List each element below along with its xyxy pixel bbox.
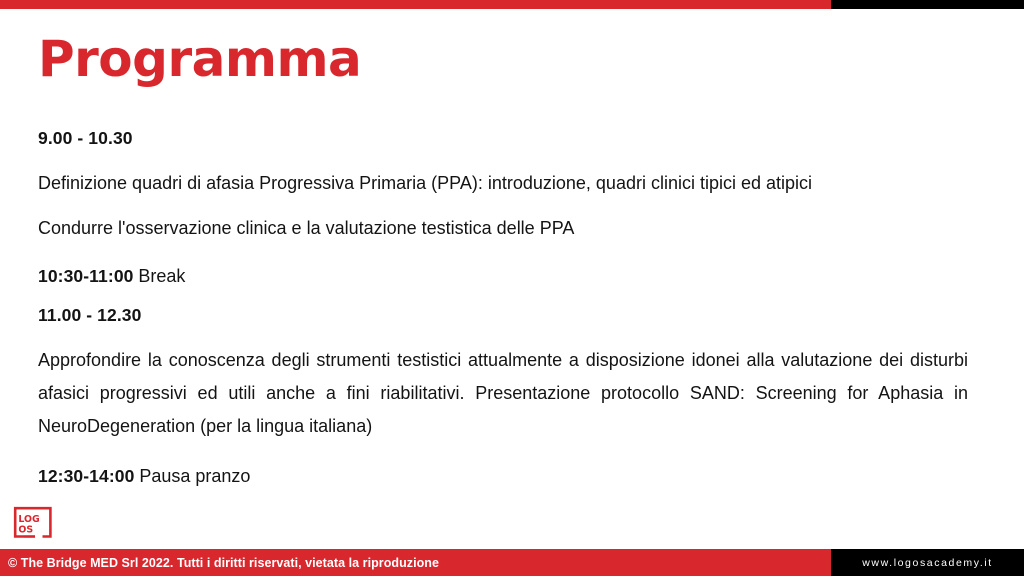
- top-bar-red-segment: [0, 0, 831, 9]
- spacer: [38, 257, 968, 265]
- footer-website-section: www.logosacademy.it: [831, 549, 1024, 576]
- spacer: [38, 455, 968, 465]
- schedule-time-2: 10:30-11:00: [38, 266, 133, 286]
- logo-line-2-text: OS: [18, 525, 33, 536]
- footer-copyright-section: © The Bridge MED Srl 2022. Tutti i dirit…: [0, 549, 831, 576]
- footer-bar: © The Bridge MED Srl 2022. Tutti i dirit…: [0, 549, 1024, 576]
- schedule-row-2: 10:30-11:00 Break: [38, 265, 968, 288]
- schedule-description-3: Approfondire la conoscenza degli strumen…: [38, 344, 968, 443]
- footer-website-text: www.logosacademy.it: [862, 557, 993, 569]
- schedule-description-4: Pausa pranzo: [139, 466, 250, 486]
- schedule-time-3: 11.00 - 12.30: [38, 305, 968, 327]
- schedule-description-1-line-2: Condurre l'osservazione clinica e la val…: [38, 212, 968, 245]
- schedule-list: 9.00 - 10.30 Definizione quadri di afasi…: [38, 128, 968, 506]
- schedule-description-2: Break: [138, 266, 185, 286]
- schedule-description-1-line-1: Definizione quadri di afasia Progressiva…: [38, 167, 968, 200]
- schedule-time-1: 9.00 - 10.30: [38, 128, 968, 150]
- logo-line-1-text: LOG: [18, 514, 39, 525]
- footer-copyright-text: © The Bridge MED Srl 2022. Tutti i dirit…: [8, 556, 439, 570]
- top-accent-bar: [0, 0, 1024, 9]
- schedule-row-4: 12:30-14:00 Pausa pranzo: [38, 465, 968, 488]
- schedule-time-4: 12:30-14:00: [38, 466, 134, 486]
- top-bar-black-segment: [831, 0, 1024, 9]
- page-title: Programma: [38, 33, 361, 86]
- logos-academy-logo: LOG OS: [13, 506, 53, 539]
